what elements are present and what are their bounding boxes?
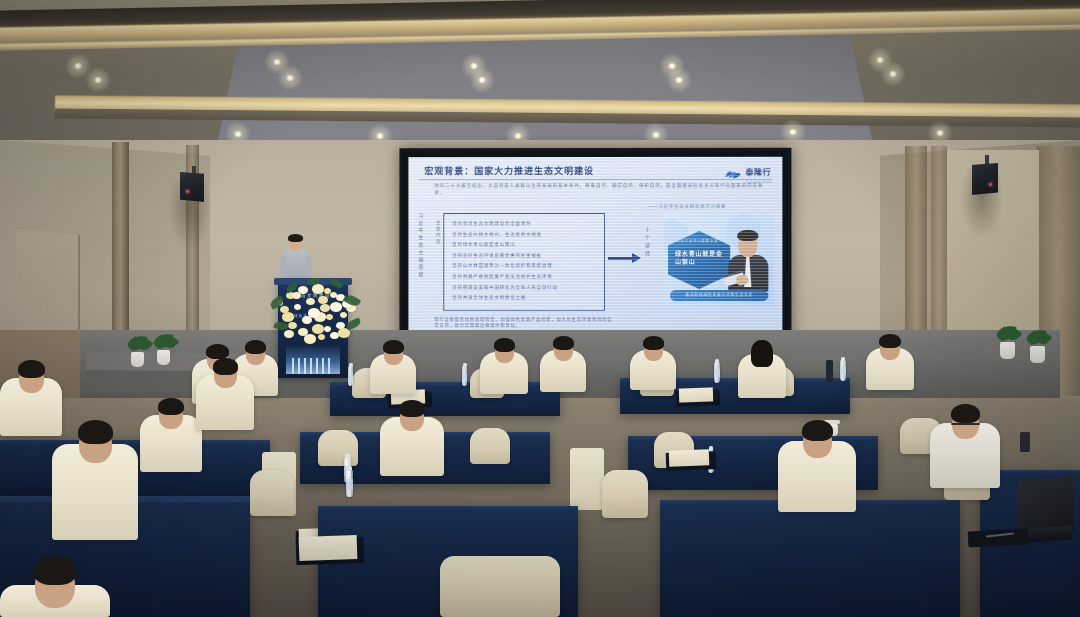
flower-bloom — [320, 304, 330, 312]
company-logo: 泰隆行 TAILONG BANK — [724, 162, 772, 184]
thermos — [1020, 432, 1030, 452]
bottle-label — [346, 479, 353, 490]
audience-member — [196, 358, 254, 430]
wall-speaker-right — [972, 163, 998, 195]
slide-bullet-item: 坚持用最严格制度最严密法治保护生态环境 — [452, 274, 552, 280]
table-top-edge — [318, 506, 578, 510]
speaker-mount-left — [192, 166, 196, 174]
slide-bullet-item: 坚持党对生态文明建设的全面领导 — [452, 221, 531, 227]
hex-caption: 习近平总书记重要论述 — [676, 239, 722, 244]
slide-bullet-box: 坚持党对生态文明建设的全面领导坚持生态兴则文明兴，生态衰则文明衰坚持绿水青山就是… — [443, 213, 605, 311]
chair-skirt — [570, 448, 604, 510]
flower-bloom — [288, 322, 297, 329]
speaker-led-right — [989, 183, 992, 186]
chair — [470, 428, 510, 464]
note-pad — [299, 535, 358, 561]
ceiling-downlight — [514, 133, 522, 139]
conference-table — [660, 500, 960, 617]
person-hair — [399, 400, 425, 417]
person-hair — [206, 344, 229, 359]
ceiling-downlight — [478, 77, 486, 83]
wall-speaker-left — [180, 172, 204, 202]
bottle-label — [840, 367, 846, 375]
slide-footer-text: 银行业要服务绿色低碳转型，加强绿色金融产品创新，加大对生态环保项目的信贷支持，助… — [434, 317, 614, 329]
flower-bloom — [294, 304, 301, 310]
flower-bloom — [306, 298, 315, 305]
ceiling-downlight — [94, 77, 102, 83]
note-pad — [669, 449, 710, 466]
person-hair — [643, 336, 664, 350]
flower-bloom — [324, 326, 331, 332]
hex-ribbon-text: 推动形成绿色发展方式和生活方式 — [670, 290, 768, 301]
speaker-mount-right — [985, 155, 989, 165]
bottle-cap — [349, 363, 353, 367]
ceiling-downlight — [74, 63, 82, 69]
bottle-cap — [715, 359, 719, 363]
person-hair — [951, 404, 980, 423]
ceiling-downlight — [876, 57, 884, 63]
flower-bloom — [304, 334, 316, 344]
slide-vertical-label-2: 主要内容 — [435, 220, 441, 246]
hex-headline: 绿水青山就是金山银山 — [675, 251, 725, 267]
plant-pot — [1000, 342, 1015, 359]
chair — [250, 470, 294, 516]
person-hair — [553, 336, 574, 350]
chair — [440, 556, 560, 617]
audience-member — [370, 340, 416, 394]
slide-bullet-item: 坚持绿水青山就是金山银山 — [452, 242, 515, 248]
projection-screen[interactable]: 宏观背景：国家大力推进生态文明建设 泰隆行 TAILONG BANK 党的二十大… — [399, 148, 791, 346]
slide-bullet-item: 坚持把建设美丽中国转化为全体人民自觉行动 — [452, 285, 558, 291]
flower-bloom — [318, 334, 325, 340]
person-hair — [245, 340, 266, 354]
ceiling-center-panel — [215, 28, 875, 154]
audience-member — [52, 420, 138, 540]
slide-hex-panel: 习近平总书记重要论述 绿水青山就是金山银山 推动形成绿色发展方式和生活方式 — [664, 211, 774, 307]
slide-right-vertical-text: 十个坚持 — [644, 227, 651, 259]
flower-leaf — [329, 277, 343, 291]
presenter-hair — [288, 234, 303, 242]
chair — [318, 430, 358, 466]
person-hair — [158, 398, 184, 415]
logo-brand-text: 泰隆行 — [746, 168, 772, 177]
slide-bullet-item: 坚持生态兴则文明兴，生态衰则文明衰 — [452, 232, 542, 238]
title-divider — [418, 179, 772, 180]
bottle-label — [714, 369, 720, 377]
person-hair — [751, 340, 773, 367]
audience-member — [480, 338, 528, 394]
bank-logo-icon — [724, 166, 742, 179]
person-hair — [18, 360, 45, 378]
portrait-hair — [737, 230, 758, 241]
ceiling-downlight — [652, 132, 660, 138]
slide-arrow — [608, 253, 642, 263]
bottle-cap — [347, 466, 352, 471]
flower-bloom — [280, 306, 289, 313]
phone-or-case — [968, 528, 1029, 547]
podium-graphic — [286, 344, 340, 374]
audience-member — [738, 340, 786, 398]
conference-room-photo: 宏观背景：国家大力推进生态文明建设 泰隆行 TAILONG BANK 党的二十大… — [0, 0, 1080, 617]
plant-pot — [1030, 346, 1045, 363]
audience-member — [0, 556, 110, 617]
flower-bloom — [340, 312, 347, 318]
presentation-slide: 宏观背景：国家大力推进生态文明建设 泰隆行 TAILONG BANK 党的二十大… — [408, 157, 782, 337]
flower-leaf — [345, 317, 362, 330]
flower-bloom — [284, 330, 294, 338]
bottle-label — [348, 373, 353, 381]
person-hair — [383, 340, 404, 354]
ceiling-downlight — [273, 59, 281, 65]
flower-arrangement — [268, 274, 360, 342]
audience-member — [866, 334, 914, 390]
flower-bloom — [312, 324, 324, 334]
plant-pot — [157, 350, 170, 365]
ceiling-downlight — [675, 77, 683, 83]
slide-lead-text: 党的二十大报告指出，大自然是人类赖以生存发展的基本条件。尊重自然、顺应自然、保护… — [434, 183, 766, 196]
person-hair — [213, 358, 238, 375]
ceiling-downlight — [789, 129, 797, 135]
ceiling-downlight — [286, 75, 294, 81]
slide-title: 宏观背景：国家大力推进生态文明建设 — [424, 164, 594, 177]
hex-ribbon: 推动形成绿色发展方式和生活方式 — [670, 290, 768, 301]
person-hair — [494, 338, 515, 352]
arrow-shaft — [608, 257, 633, 260]
dark-bottle — [826, 360, 833, 382]
flower-bloom — [330, 292, 337, 298]
ceiling-downlight — [936, 130, 944, 136]
audience-member — [380, 400, 444, 476]
flower-bloom — [326, 314, 333, 320]
plant-pot — [131, 352, 144, 367]
audience-member — [778, 420, 856, 512]
person-hair — [802, 420, 833, 441]
arrow-head-icon — [632, 253, 641, 263]
flower-bloom — [312, 284, 324, 294]
audience-member — [140, 398, 202, 472]
chair — [602, 470, 648, 518]
speaker-led-left — [186, 190, 189, 193]
ceiling-downlight — [889, 71, 897, 77]
slide-bullet-item: 坚持良好生态环境是最普惠的民生福祉 — [452, 253, 542, 259]
flower-bloom — [308, 308, 320, 318]
bottle-cap — [841, 357, 845, 361]
flower-bloom — [282, 312, 294, 322]
ceiling-downlight — [376, 133, 384, 139]
person-hair — [78, 420, 113, 444]
slide-bullet-item: 坚持山水林田湖草沙一体化保护和系统治理 — [452, 263, 552, 269]
slide-vertical-label: 习近平生态文明思想 — [417, 213, 424, 279]
person-hair — [34, 556, 76, 585]
flower-bloom — [330, 302, 342, 312]
bottle-label — [462, 373, 467, 381]
bottle-cap — [345, 454, 350, 459]
ceiling-downlight — [234, 131, 242, 137]
audience-member — [630, 336, 676, 390]
bottle-cap — [463, 363, 467, 367]
audience-member — [930, 404, 1000, 488]
note-pad — [679, 387, 713, 402]
person-hair — [879, 334, 901, 348]
slide-bullet-item: 坚持共谋全球生态文明建设之路 — [452, 295, 526, 301]
audience-member — [540, 336, 586, 392]
flower-bloom — [292, 292, 301, 299]
leader-portrait — [722, 225, 772, 291]
slide-source-note: ——习近平生态文明思想学习纲要 — [648, 204, 726, 210]
